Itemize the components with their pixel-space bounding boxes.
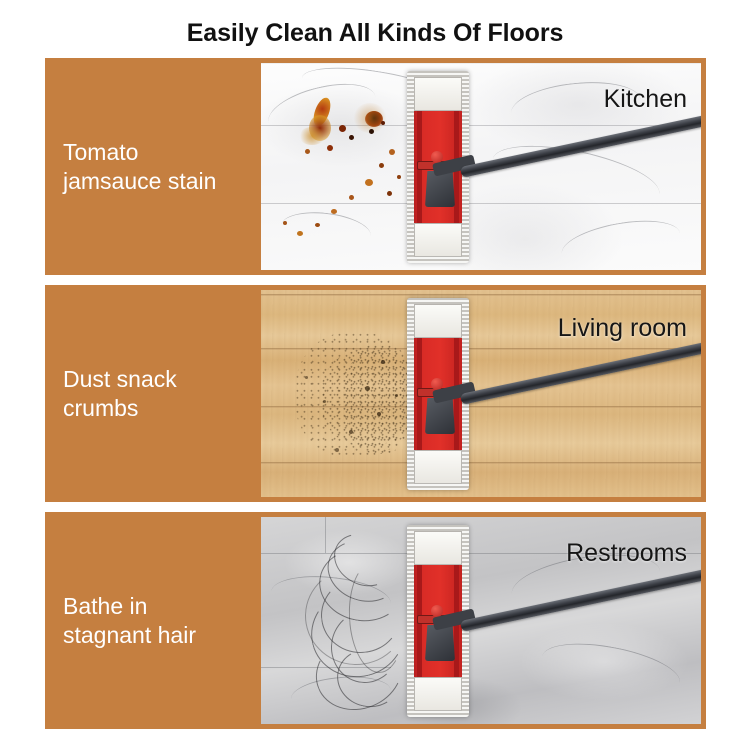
scene-label: Living room: [558, 314, 687, 343]
scene-photo: Living room: [261, 290, 701, 497]
comparison-rows: Tomato jamsauce stain: [45, 58, 706, 729]
table-row: Dust snack crumbs: [45, 285, 706, 502]
table-row: Bathe in stagnant hair: [45, 512, 706, 729]
wood-plank-seam: [261, 294, 701, 296]
row-label-panel: Tomato jamsauce stain: [45, 58, 261, 275]
row-label-panel: Bathe in stagnant hair: [45, 512, 261, 729]
stone-seam: [325, 517, 326, 553]
mop-bracket: [425, 171, 455, 207]
table-row: Tomato jamsauce stain: [45, 58, 706, 275]
row-label-text: Dust snack crumbs: [63, 365, 177, 421]
mop-bracket: [425, 398, 455, 434]
scene-restroom: Restrooms: [261, 517, 701, 724]
scene-photo: Restrooms: [261, 517, 701, 724]
row-label-text: Tomato jamsauce stain: [63, 138, 216, 194]
scene-label: Kitchen: [604, 85, 687, 114]
scene-photo: Kitchen: [261, 63, 701, 270]
wood-plank-seam: [261, 462, 701, 464]
scene-living-room: Living room: [261, 290, 701, 497]
scene-kitchen: Kitchen: [261, 63, 701, 270]
row-label-panel: Dust snack crumbs: [45, 285, 261, 502]
scene-label: Restrooms: [566, 539, 687, 568]
row-label-text: Bathe in stagnant hair: [63, 592, 196, 648]
page-title: Easily Clean All Kinds Of Floors: [0, 19, 750, 48]
mop-bracket: [425, 625, 455, 661]
